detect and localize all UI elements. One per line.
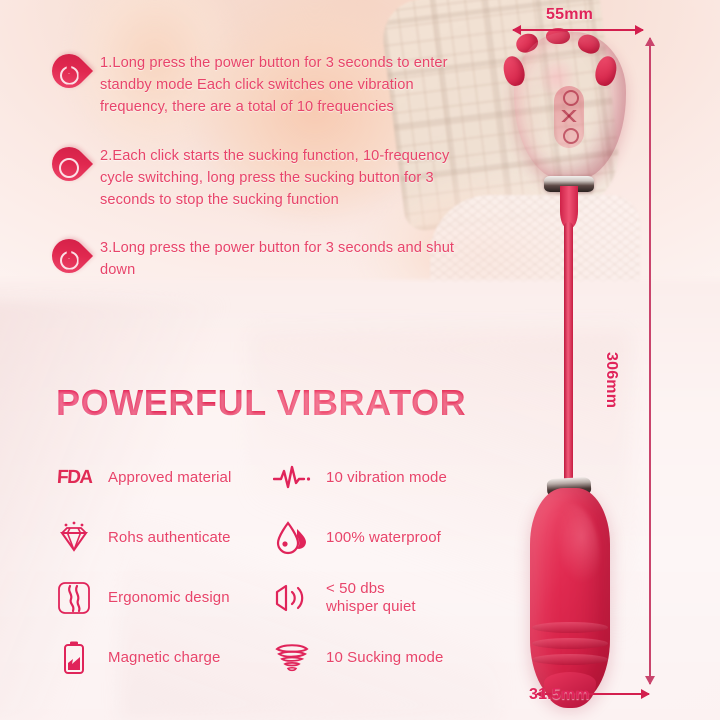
power-droplet-icon <box>52 239 86 281</box>
feature-label-line2: whisper quiet <box>326 598 416 616</box>
instruction-text-3: 3.Long press the power button for 3 seco… <box>100 237 482 281</box>
feature-label-line1: < 50 dbs <box>326 580 385 597</box>
heartbeat-icon <box>270 456 314 500</box>
width-top-label: 55mm <box>546 6 593 24</box>
feature-label: Rohs authenticate <box>108 529 231 547</box>
diamond-icon <box>52 516 96 560</box>
power-button <box>563 128 579 144</box>
feature-ergonomic-design: Ergonomic design <box>52 568 270 628</box>
power-droplet-icon <box>52 54 86 96</box>
connecting-cord <box>564 222 573 484</box>
bullet-ridge <box>532 638 608 649</box>
height-arrow <box>649 38 651 684</box>
bullet-highlight <box>540 504 600 614</box>
waterdrop-icon <box>270 516 314 560</box>
feature-sucking-mode: 10 Sucking mode <box>270 628 492 688</box>
feature-label: Approved material <box>108 469 231 487</box>
feature-label: 10 vibration mode <box>326 469 447 487</box>
bullet-ridge <box>532 622 608 633</box>
instruction-item-3: 3.Long press the power button for 3 seco… <box>52 237 482 281</box>
feature-label: 100% waterproof <box>326 529 441 547</box>
width-top-arrow <box>513 29 643 31</box>
feature-label: Magnetic charge <box>108 649 220 667</box>
ergonomic-icon <box>52 576 96 620</box>
feature-label: 10 Sucking mode <box>326 649 443 667</box>
feature-whisper-quiet: < 50 dbs whisper quiet <box>270 568 492 628</box>
feature-waterproof: 100% waterproof <box>270 508 492 568</box>
feature-vibration-mode: 10 vibration mode <box>270 448 492 508</box>
instruction-text-2: 2.Each click starts the sucking function… <box>100 145 482 212</box>
page-title: POWERFUL VIBRATOR <box>56 382 466 424</box>
feature-magnetic-charge: Magnetic charge <box>52 628 270 688</box>
instruction-list: 1.Long press the power button for 3 seco… <box>52 52 482 281</box>
infographic-canvas: 1.Long press the power button for 3 seco… <box>0 0 720 720</box>
feature-grid: FDA Approved material 10 vibration mode <box>52 448 492 688</box>
instruction-item-1: 1.Long press the power button for 3 seco… <box>52 52 482 119</box>
fda-icon: FDA <box>52 456 96 500</box>
feature-label-line1: Ergonomic design <box>108 589 230 606</box>
instruction-text-1: 1.Long press the power button for 3 seco… <box>100 52 482 119</box>
width-bottom-label: 31.5mm <box>529 686 590 704</box>
suction-droplet-icon <box>52 147 86 189</box>
bullet-ridge <box>532 654 608 665</box>
battery-charge-icon <box>52 636 96 680</box>
vortex-icon <box>270 636 314 680</box>
height-label: 306mm <box>602 352 620 408</box>
instruction-item-2: 2.Each click starts the sucking function… <box>52 145 482 212</box>
feature-label: Ergonomic design <box>108 589 230 607</box>
mode-button <box>558 110 580 122</box>
suction-button <box>563 90 579 106</box>
fda-icon-text: FDA <box>56 467 92 489</box>
feature-approved-material: FDA Approved material <box>52 448 270 508</box>
feature-label: < 50 dbs whisper quiet <box>326 580 416 615</box>
feature-rohs-authenticate: Rohs authenticate <box>52 508 270 568</box>
speaker-icon <box>270 576 314 620</box>
